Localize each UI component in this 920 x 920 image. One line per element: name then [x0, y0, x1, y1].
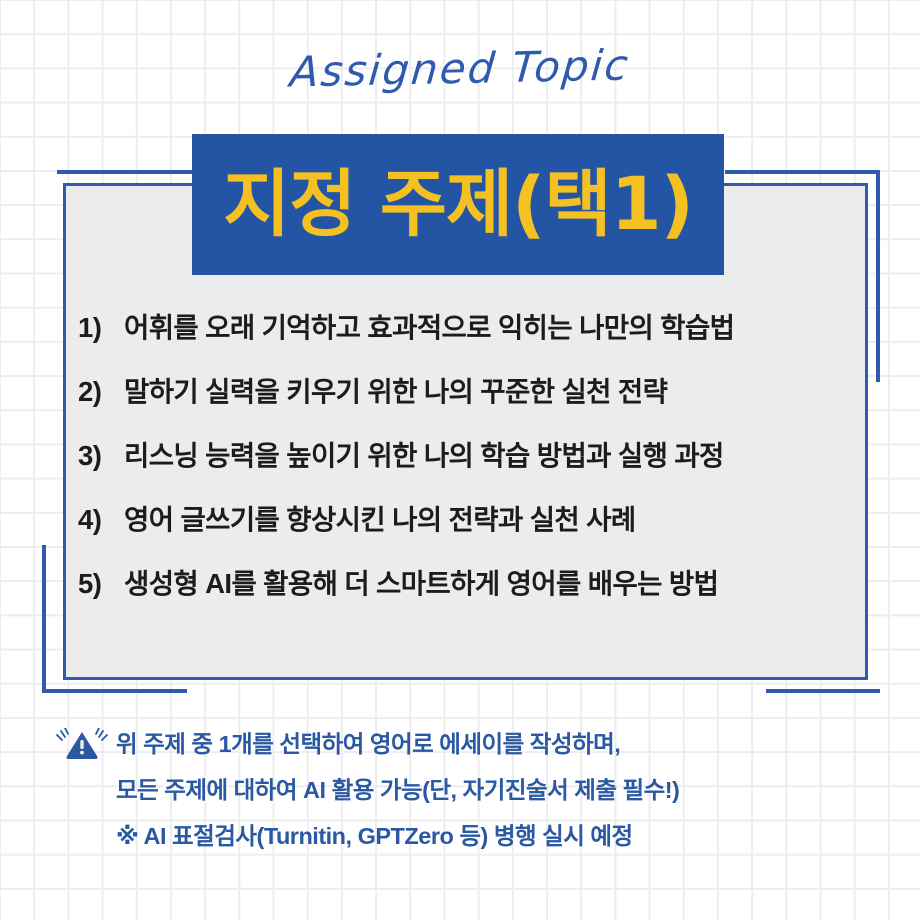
note-line: 위 주제 중 1개를 선택하여 영어로 에세이를 작성하며, — [48, 727, 908, 773]
topic-list: 1) 어휘를 오래 기억하고 효과적으로 익히는 나만의 학습법 2) 말하기 … — [78, 305, 868, 625]
list-item-label: 말하기 실력을 키우기 위한 나의 꾸준한 실천 전략 — [124, 369, 868, 409]
frame-rule-bottom-left — [42, 689, 187, 693]
note-text: ※ AI 표절검사(Turnitin, GPTZero 등) 병행 실시 예정 — [116, 819, 633, 853]
list-item-number: 1) — [78, 312, 124, 344]
note-text: 위 주제 중 1개를 선택하여 영어로 에세이를 작성하며, — [116, 727, 620, 761]
note-text: 모든 주제에 대하여 AI 활용 가능(단, 자기진술서 제출 필수!) — [116, 773, 679, 807]
frame-rule-bottom-right — [766, 689, 880, 693]
poster-canvas: Assigned Topic 지정 주제(택1) 1) 어휘를 오래 기억하고 … — [0, 0, 920, 920]
list-item-label: 영어 글쓰기를 향상시킨 나의 전략과 실천 사례 — [124, 497, 868, 537]
list-item[interactable]: 3) 리스닝 능력을 높이기 위한 나의 학습 방법과 실행 과정 — [78, 433, 868, 497]
list-item-number: 2) — [78, 376, 124, 408]
list-item-number: 5) — [78, 568, 124, 600]
banner-title-text: 지정 주제(택1) — [223, 168, 693, 241]
list-item[interactable]: 1) 어휘를 오래 기억하고 효과적으로 익히는 나만의 학습법 — [78, 305, 868, 369]
list-item-number: 4) — [78, 504, 124, 536]
list-item-label: 리스닝 능력을 높이기 위한 나의 학습 방법과 실행 과정 — [124, 433, 868, 473]
frame-rule-left-vertical — [42, 545, 46, 693]
page-title: Assigned Topic — [0, 34, 920, 102]
list-item[interactable]: 5) 생성형 AI를 활용해 더 스마트하게 영어를 배우는 방법 — [78, 561, 868, 625]
warning-triangle-icon — [48, 727, 116, 763]
note-line: 모든 주제에 대하여 AI 활용 가능(단, 자기진술서 제출 필수!) — [48, 773, 908, 819]
note-line: ※ AI 표절검사(Turnitin, GPTZero 등) 병행 실시 예정 — [48, 819, 908, 865]
notes-block: 위 주제 중 1개를 선택하여 영어로 에세이를 작성하며, 모든 주제에 대하… — [48, 727, 908, 865]
frame-rule-top-right — [725, 170, 880, 174]
list-item[interactable]: 4) 영어 글쓰기를 향상시킨 나의 전략과 실천 사례 — [78, 497, 868, 561]
list-item[interactable]: 2) 말하기 실력을 키우기 위한 나의 꾸준한 실천 전략 — [78, 369, 868, 433]
note-icon-spacer — [48, 773, 116, 809]
list-item-number: 3) — [78, 440, 124, 472]
frame-rule-right-vertical — [876, 172, 880, 382]
note-icon-spacer — [48, 819, 116, 855]
list-item-label: 생성형 AI를 활용해 더 스마트하게 영어를 배우는 방법 — [124, 561, 868, 601]
banner-title-block: 지정 주제(택1) — [192, 134, 724, 275]
list-item-label: 어휘를 오래 기억하고 효과적으로 익히는 나만의 학습법 — [124, 305, 868, 345]
